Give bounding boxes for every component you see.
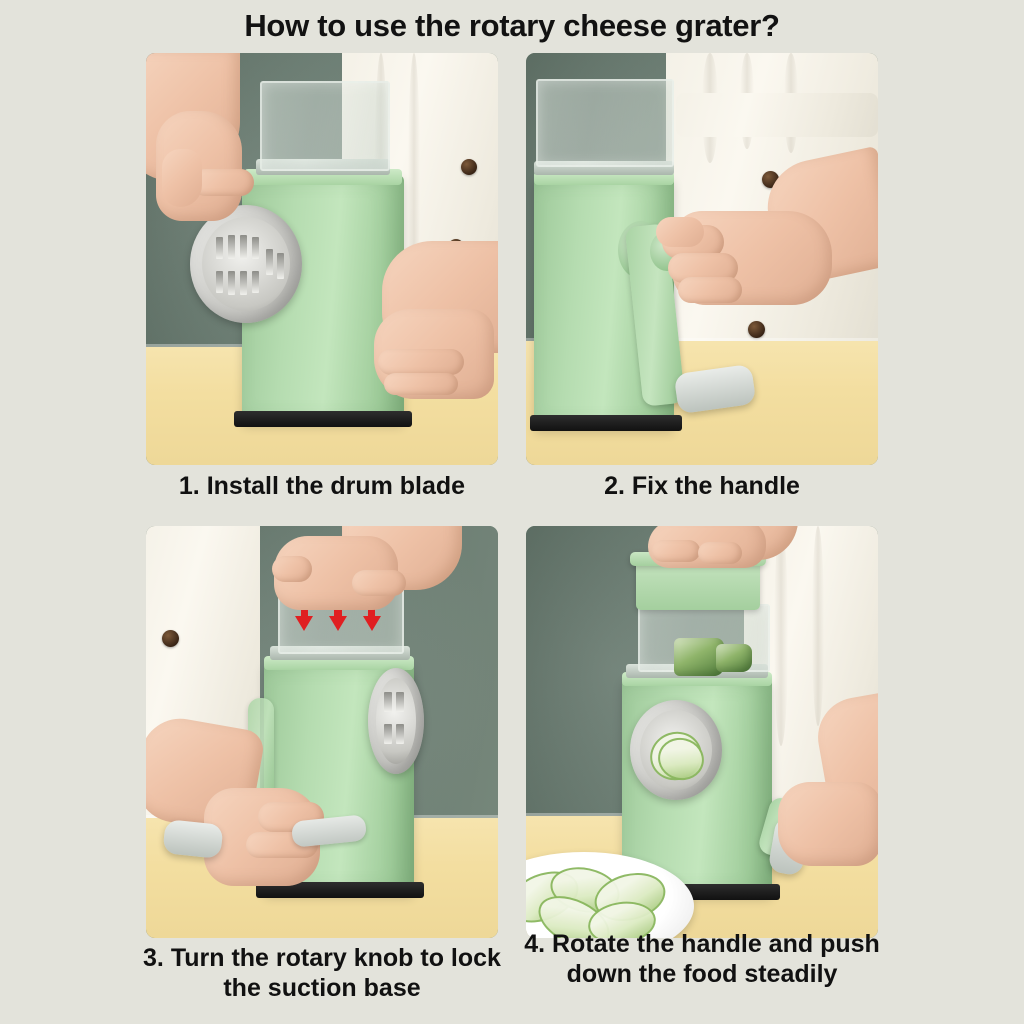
top-fingers bbox=[698, 542, 742, 564]
blade-slot bbox=[228, 235, 235, 259]
blade-slot bbox=[396, 692, 404, 712]
dress-button bbox=[461, 159, 477, 175]
right-fingers bbox=[384, 373, 458, 395]
blade-slot bbox=[216, 237, 223, 259]
blade-slot bbox=[240, 235, 247, 259]
dress-fold bbox=[812, 526, 824, 726]
blade-slot bbox=[252, 271, 259, 293]
top-fingers bbox=[272, 556, 312, 582]
step-4-caption: 4. Rotate the handle and push down the f… bbox=[520, 930, 884, 989]
feed-hopper bbox=[536, 79, 674, 167]
blade-slot bbox=[396, 724, 404, 744]
dress-fold bbox=[774, 526, 788, 746]
step-3-caption: 3. Turn the rotary knob to lock the suct… bbox=[140, 944, 504, 1003]
blade-slot bbox=[384, 692, 392, 712]
blade-slot bbox=[240, 271, 247, 295]
zucchini-chunk bbox=[716, 644, 752, 672]
right-fingers bbox=[378, 349, 464, 375]
instruction-infographic: How to use the rotary cheese grater? bbox=[0, 0, 1024, 1024]
top-fingers bbox=[352, 570, 406, 596]
feed-hopper bbox=[260, 81, 390, 171]
top-fingers bbox=[652, 540, 700, 562]
drum-blade-interior bbox=[376, 678, 416, 764]
scene-turn-rotary-knob bbox=[146, 526, 498, 938]
thumb bbox=[656, 217, 704, 247]
step-1-caption: 1. Install the drum blade bbox=[146, 472, 498, 502]
page-title: How to use the rotary cheese grater? bbox=[0, 8, 1024, 44]
step-4-photo bbox=[526, 526, 878, 938]
dress-waist-belt bbox=[676, 93, 878, 137]
blade-slot bbox=[216, 271, 223, 293]
step-2-caption: 2. Fix the handle bbox=[526, 472, 878, 502]
dress-button bbox=[748, 321, 765, 338]
suction-base bbox=[530, 415, 682, 431]
step-1-photo bbox=[146, 53, 498, 465]
step-3-photo bbox=[146, 526, 498, 938]
dress-button bbox=[162, 630, 179, 647]
scene-rotate-handle-push-food bbox=[526, 526, 878, 938]
scene-fix-the-handle bbox=[526, 53, 878, 465]
blade-slot bbox=[228, 271, 235, 295]
right-hand bbox=[778, 782, 878, 866]
ring-finger bbox=[678, 277, 742, 303]
step-2-photo bbox=[526, 53, 878, 465]
blade-slot bbox=[277, 253, 284, 279]
blade-slot bbox=[252, 237, 259, 259]
left-thumb bbox=[162, 149, 202, 207]
blade-slot bbox=[384, 724, 392, 744]
detached-crank-grip bbox=[162, 819, 223, 859]
suction-base bbox=[234, 411, 412, 427]
blade-slot bbox=[266, 249, 273, 275]
scene-install-drum-blade bbox=[146, 53, 498, 465]
